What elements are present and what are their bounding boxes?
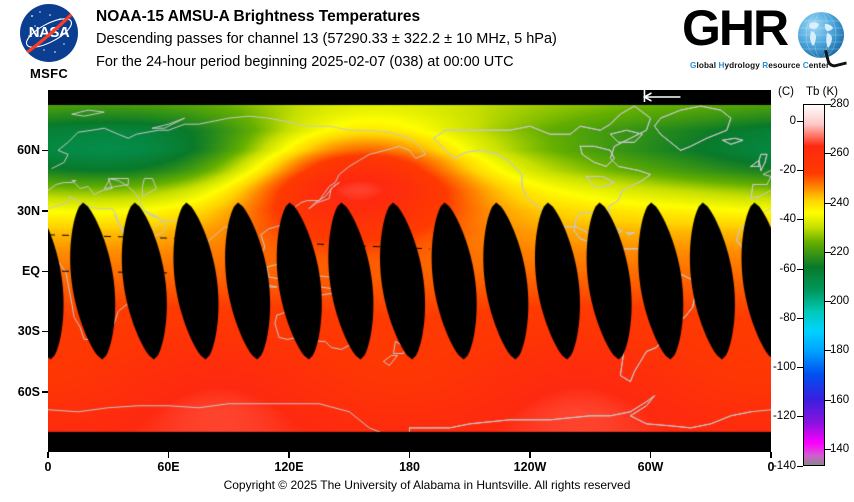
colorbar-celsius-label--140: -140 bbox=[773, 460, 796, 472]
colorbar-kelvin-label-140: 140 bbox=[830, 443, 849, 455]
page-title: NOAA-15 AMSU-A Brightness Temperatures bbox=[96, 6, 676, 28]
ghrc-sub-esource: esource bbox=[768, 61, 802, 70]
nasa-logo: NASA MSFC bbox=[12, 4, 86, 86]
colorbar-kelvin-tick-260 bbox=[825, 153, 831, 154]
lat-tick-eq bbox=[42, 271, 48, 273]
nasa-insignia-circle: NASA bbox=[20, 4, 78, 62]
colorbar-celsius-tick--140 bbox=[797, 466, 803, 467]
colorbar-celsius-tick--60 bbox=[797, 269, 803, 270]
colorbar-celsius-label--80: -80 bbox=[779, 312, 796, 324]
lon-tick-3 bbox=[409, 452, 411, 458]
latitude-axis: 60N30NEQ30S60S bbox=[0, 90, 48, 452]
lat-tick-60s bbox=[42, 391, 48, 393]
ghrc-sub-ydrology: ydrology bbox=[724, 61, 762, 70]
lat-label-30s: 30S bbox=[18, 324, 40, 338]
colorbar-celsius-tick--40 bbox=[797, 219, 803, 220]
lon-tick-2 bbox=[288, 452, 290, 458]
lon-tick-4 bbox=[529, 452, 531, 458]
colorbar-kelvin-tick-180 bbox=[825, 350, 831, 351]
colorbar-celsius-tick--120 bbox=[797, 416, 803, 417]
colorbar-celsius-label-0: 0 bbox=[790, 115, 796, 127]
lat-label-eq: EQ bbox=[22, 264, 40, 278]
colorbar-border bbox=[803, 104, 825, 466]
ghrc-subtitle: Global Hydrology Resource Center bbox=[690, 61, 850, 70]
page-subtitle-channel: Descending passes for channel 13 (57290.… bbox=[96, 28, 676, 51]
nasa-red-swoosh bbox=[20, 4, 78, 62]
lon-label-5: 60W bbox=[638, 460, 664, 474]
lon-tick-5 bbox=[650, 452, 652, 458]
colorbar-kelvin-label-220: 220 bbox=[830, 246, 849, 258]
colorbar-celsius-label--20: -20 bbox=[779, 164, 796, 176]
colorbar-unit-celsius: (C) bbox=[778, 86, 794, 98]
lat-label-30n: 30N bbox=[17, 204, 40, 218]
title-block: NOAA-15 AMSU-A Brightness Temperatures D… bbox=[96, 6, 676, 74]
colorbar-kelvin-label-160: 160 bbox=[830, 394, 849, 406]
colorbar-celsius-label--60: -60 bbox=[779, 263, 796, 275]
lon-label-4: 120W bbox=[514, 460, 547, 474]
colorbar-kelvin-tick-200 bbox=[825, 301, 831, 302]
colorbar-kelvin-label-180: 180 bbox=[830, 344, 849, 356]
colorbar-kelvin-label-200: 200 bbox=[830, 295, 849, 307]
header: NASA MSFC NOAA-15 AMSU-A Brightness Temp… bbox=[0, 0, 854, 90]
ghrc-sub-enter: enter bbox=[809, 61, 830, 70]
colorbar-kelvin-label-240: 240 bbox=[830, 197, 849, 209]
colorbar-kelvin-tick-280 bbox=[825, 104, 831, 105]
ghrc-sub-lobal: lobal bbox=[696, 61, 718, 70]
colorbar-celsius-tick--20 bbox=[797, 170, 803, 171]
lat-label-60n: 60N bbox=[17, 143, 40, 157]
copyright-notice: Copyright © 2025 The University of Alaba… bbox=[0, 478, 854, 492]
page-subtitle-period: For the 24-hour period beginning 2025-02… bbox=[96, 51, 676, 74]
brightness-temperature-map bbox=[48, 90, 771, 452]
lon-label-1: 60E bbox=[157, 460, 179, 474]
lon-label-2: 120E bbox=[274, 460, 303, 474]
colorbar: 2802602402202001801601400-20-40-60-80-10… bbox=[803, 104, 825, 466]
colorbar-unit-kelvin: Tb (K) bbox=[806, 86, 838, 98]
colorbar-tb-label: Tb bbox=[806, 86, 819, 98]
colorbar-kelvin-tick-240 bbox=[825, 203, 831, 204]
lat-label-60s: 60S bbox=[18, 385, 40, 399]
colorbar-celsius-tick--100 bbox=[797, 367, 803, 368]
colorbar-kelvin-label-280: 280 bbox=[830, 98, 849, 110]
colorbar-kelvin-label-260: 260 bbox=[830, 147, 849, 159]
colorbar-celsius-tick-0 bbox=[797, 121, 803, 122]
colorbar-k-label: (K) bbox=[823, 86, 838, 98]
lon-tick-1 bbox=[168, 452, 170, 458]
colorbar-kelvin-tick-220 bbox=[825, 252, 831, 253]
lat-tick-30s bbox=[42, 331, 48, 333]
colorbar-celsius-label--100: -100 bbox=[773, 361, 796, 373]
lon-tick-6 bbox=[770, 452, 772, 458]
lon-label-3: 180 bbox=[399, 460, 420, 474]
longitude-axis: 060E120E180120W60W0 bbox=[48, 452, 771, 474]
colorbar-kelvin-tick-160 bbox=[825, 400, 831, 401]
map-plot bbox=[48, 90, 771, 452]
lon-label-0: 0 bbox=[45, 460, 52, 474]
colorbar-kelvin-tick-140 bbox=[825, 449, 831, 450]
colorbar-celsius-label--40: -40 bbox=[779, 213, 796, 225]
colorbar-celsius-tick--80 bbox=[797, 318, 803, 319]
lon-tick-0 bbox=[47, 452, 49, 458]
nasa-center-label: MSFC bbox=[12, 66, 86, 81]
lat-tick-60n bbox=[42, 150, 48, 152]
lat-tick-30n bbox=[42, 210, 48, 212]
ghrc-logo: GHR Global Hydrology Resource Center bbox=[682, 4, 848, 78]
colorbar-celsius-label--120: -120 bbox=[773, 410, 796, 422]
